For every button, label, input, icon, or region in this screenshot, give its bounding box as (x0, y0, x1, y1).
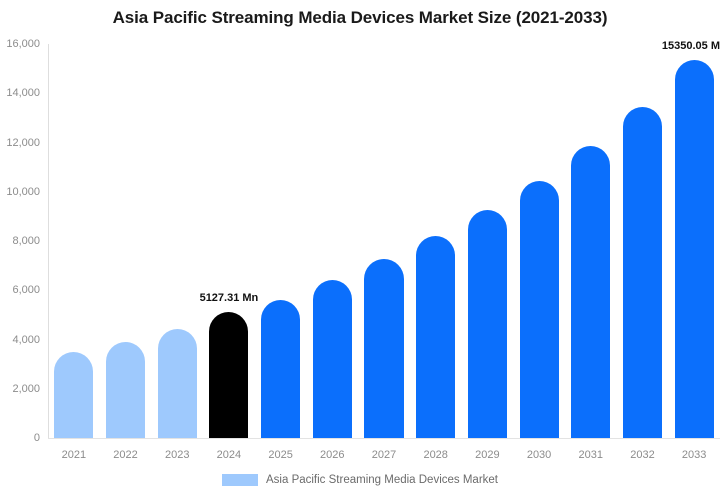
y-axis-tick-label: 14,000 (0, 87, 40, 99)
x-axis-tick-label: 2024 (217, 449, 241, 461)
x-axis-tick-label: 2021 (62, 449, 86, 461)
value-label-2024: 5127.31 Mn (200, 292, 259, 304)
y-axis-tick-label: 10,000 (0, 186, 40, 198)
chart-legend: Asia Pacific Streaming Media Devices Mar… (0, 474, 720, 486)
bar-2029[interactable] (468, 210, 507, 438)
bar-2031[interactable] (571, 146, 610, 438)
bar-2030[interactable] (520, 181, 559, 438)
bar-2032[interactable] (623, 107, 662, 438)
legend-label: Asia Pacific Streaming Media Devices Mar… (266, 474, 498, 486)
x-axis-tick-label: 2025 (268, 449, 292, 461)
y-axis-tick-label: 0 (0, 432, 40, 444)
bar-2027[interactable] (364, 259, 403, 438)
y-axis-tick-label: 6,000 (0, 284, 40, 296)
plot-area (48, 44, 720, 438)
x-axis-tick-label: 2022 (113, 449, 137, 461)
y-axis-tick-label: 2,000 (0, 383, 40, 395)
value-label-2033: 15350.05 M (662, 40, 720, 52)
bar-chart: Asia Pacific Streaming Media Devices Mar… (0, 0, 720, 500)
y-axis-tick-label: 4,000 (0, 334, 40, 346)
y-axis-ticks: 02,0004,0006,0008,00010,00012,00014,0001… (0, 0, 44, 500)
bar-2021[interactable] (54, 352, 93, 438)
bar-2023[interactable] (158, 329, 197, 438)
chart-title: Asia Pacific Streaming Media Devices Mar… (0, 8, 720, 28)
x-axis-tick-label: 2029 (475, 449, 499, 461)
bar-2024[interactable] (209, 312, 248, 438)
legend-swatch (222, 474, 258, 486)
bar-2026[interactable] (313, 280, 352, 438)
bar-2033[interactable] (675, 60, 714, 438)
x-axis-line (48, 438, 720, 439)
bar-2022[interactable] (106, 342, 145, 438)
x-axis-tick-label: 2023 (165, 449, 189, 461)
y-axis-tick-label: 12,000 (0, 137, 40, 149)
bar-2025[interactable] (261, 300, 300, 438)
x-axis-tick-label: 2026 (320, 449, 344, 461)
x-axis-tick-label: 2032 (630, 449, 654, 461)
x-axis-tick-label: 2028 (423, 449, 447, 461)
bar-2028[interactable] (416, 236, 455, 438)
x-axis-tick-label: 2027 (372, 449, 396, 461)
x-axis-tick-label: 2033 (682, 449, 706, 461)
y-axis-tick-label: 16,000 (0, 38, 40, 50)
y-axis-tick-label: 8,000 (0, 235, 40, 247)
x-axis-tick-label: 2031 (579, 449, 603, 461)
x-axis-tick-label: 2030 (527, 449, 551, 461)
